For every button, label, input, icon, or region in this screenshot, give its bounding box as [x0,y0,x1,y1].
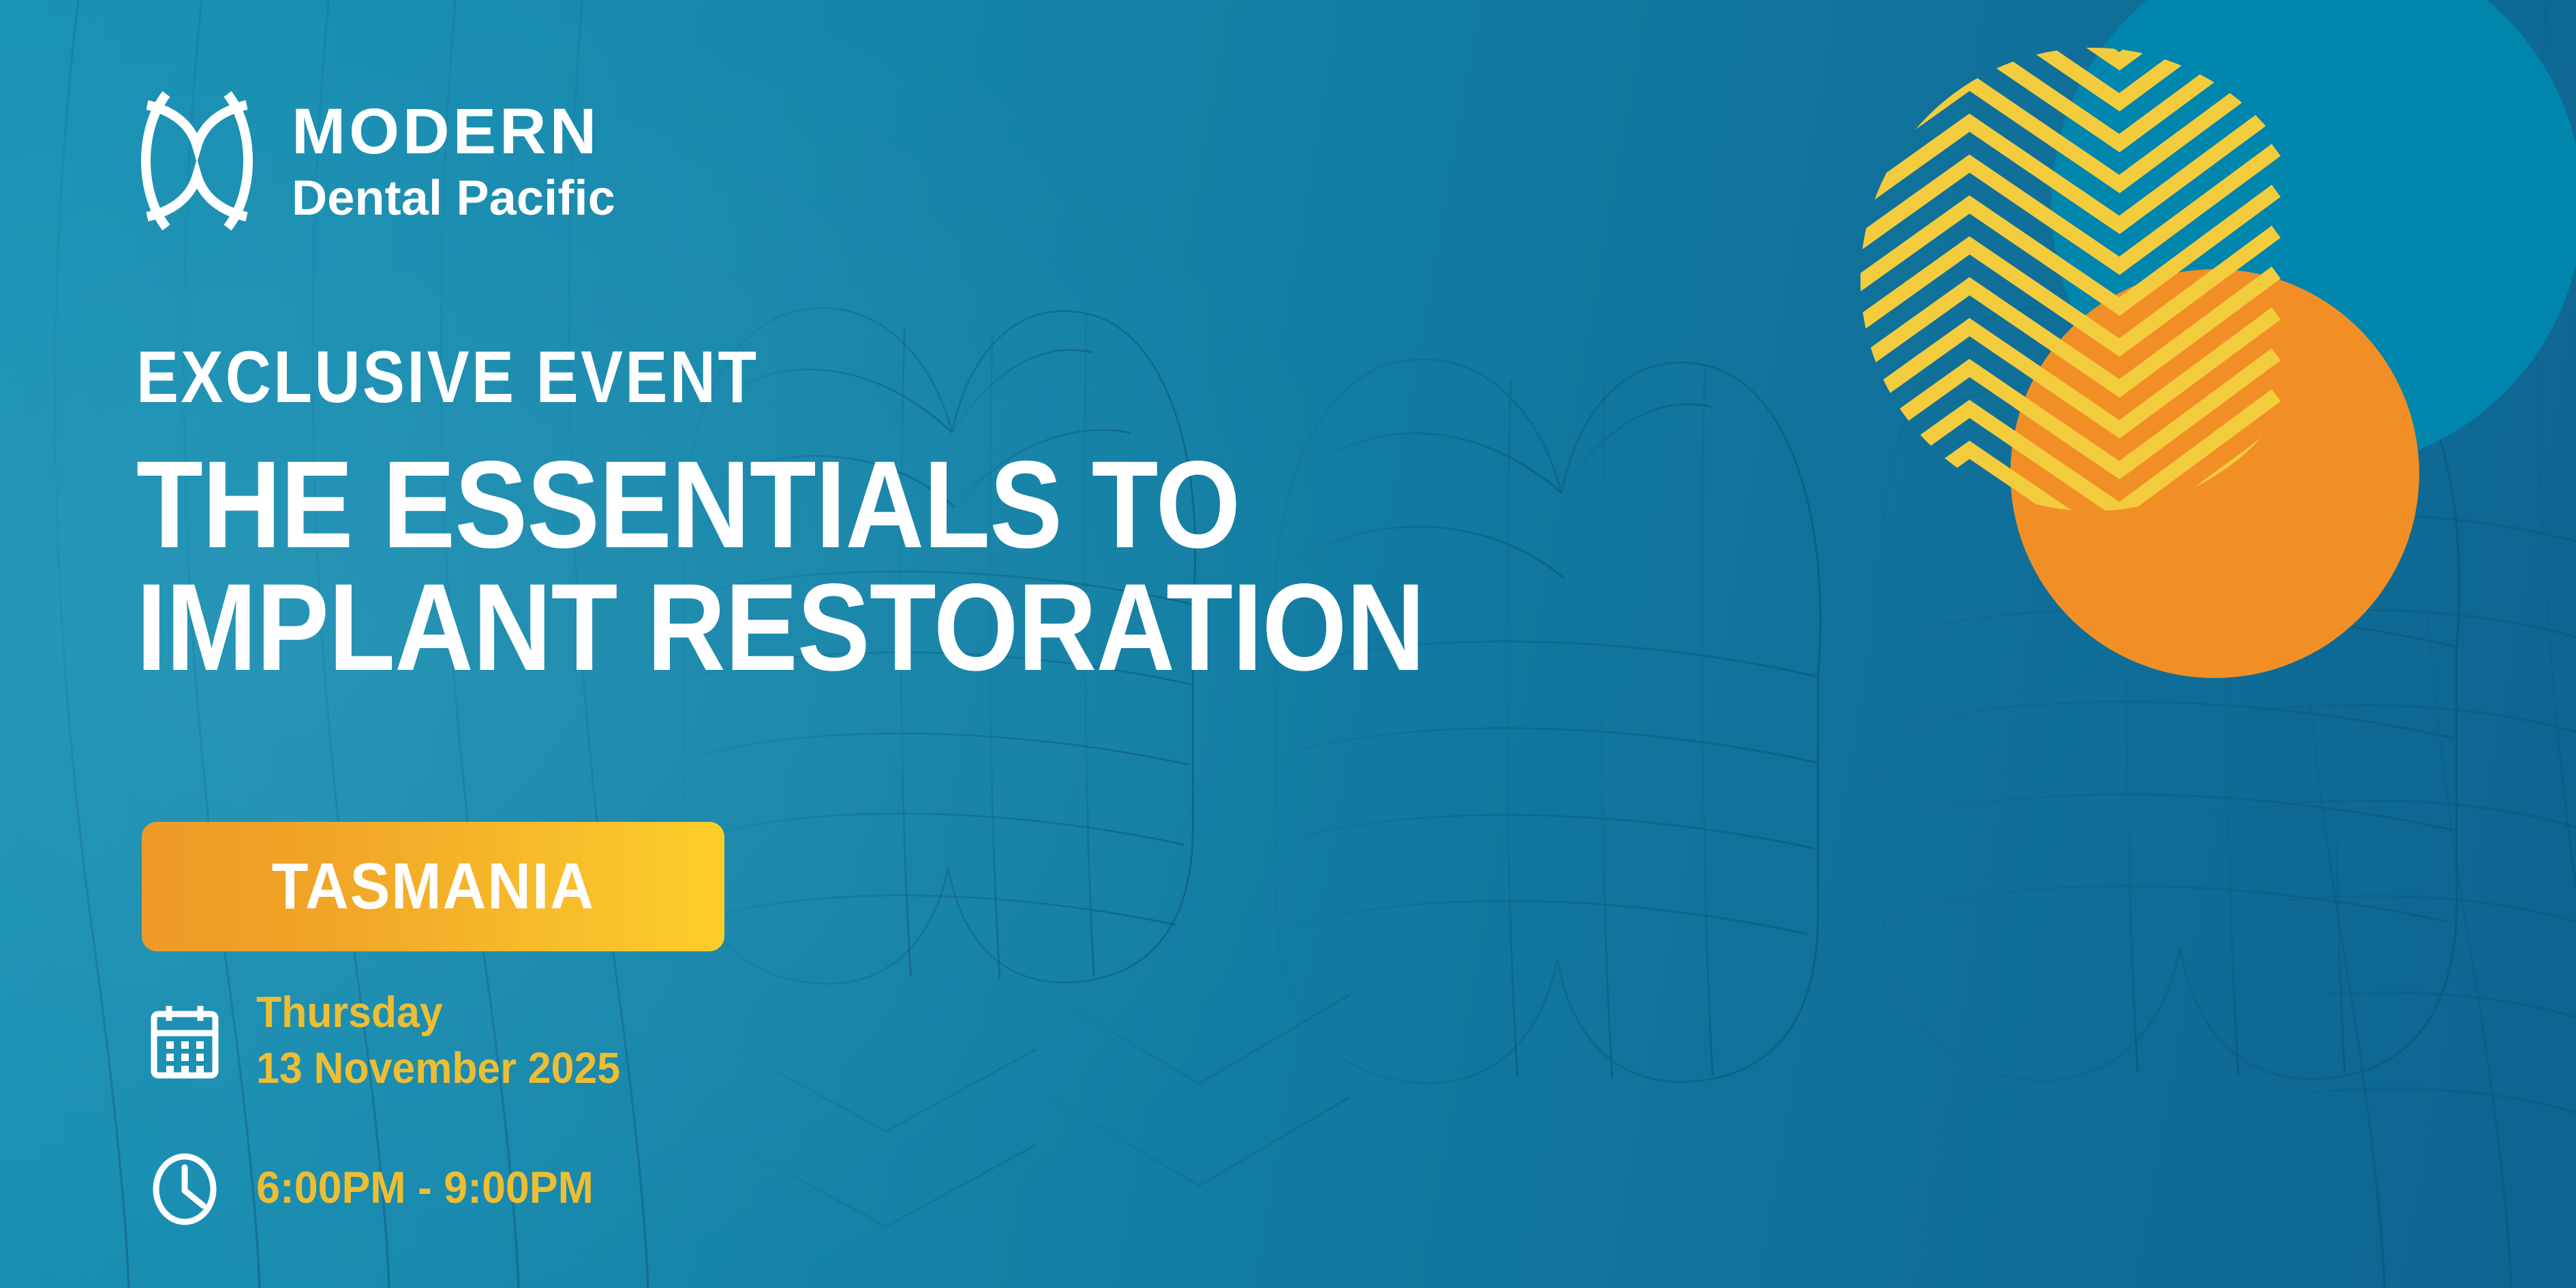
brand-name-modern: MODERN [292,99,615,164]
brand-wordmark: MODERN Dental Pacific [292,99,615,223]
orange-circle [2010,269,2419,678]
event-date: 13 November 2025 [256,1041,620,1097]
headline-line-2: IMPLANT RESTORATION [136,566,1424,688]
page-title: THE ESSENTIALS TO IMPLANT RESTORATION [136,443,1424,688]
clock-icon [144,1147,225,1227]
calendar-icon [144,1000,225,1081]
teal-circle [2051,0,2576,470]
event-day: Thursday [256,985,620,1041]
brand-logo-lockup[interactable]: MODERN Dental Pacific [134,87,615,234]
brand-name-dental-pacific: Dental Pacific [292,174,615,223]
event-details: Thursday 13 November 2025 6:00PM - 9:00P… [144,985,639,1227]
location-badge[interactable]: TASMANIA [142,822,724,951]
event-date-row: Thursday 13 November 2025 [144,985,639,1097]
event-time: 6:00PM - 9:00PM [256,1159,594,1216]
event-time-text: 6:00PM - 9:00PM [256,1159,594,1216]
location-badge-label: TASMANIA [271,849,594,924]
eyebrow-label: EXCLUSIVE EVENT [136,334,759,419]
headline-line-1: THE ESSENTIALS TO [136,443,1424,566]
tooth-logo-icon [134,87,260,234]
event-time-row: 6:00PM - 9:00PM [144,1147,639,1227]
event-banner: MODERN Dental Pacific EXCLUSIVE EVENT TH… [0,0,2576,1288]
event-date-text: Thursday 13 November 2025 [256,985,620,1097]
